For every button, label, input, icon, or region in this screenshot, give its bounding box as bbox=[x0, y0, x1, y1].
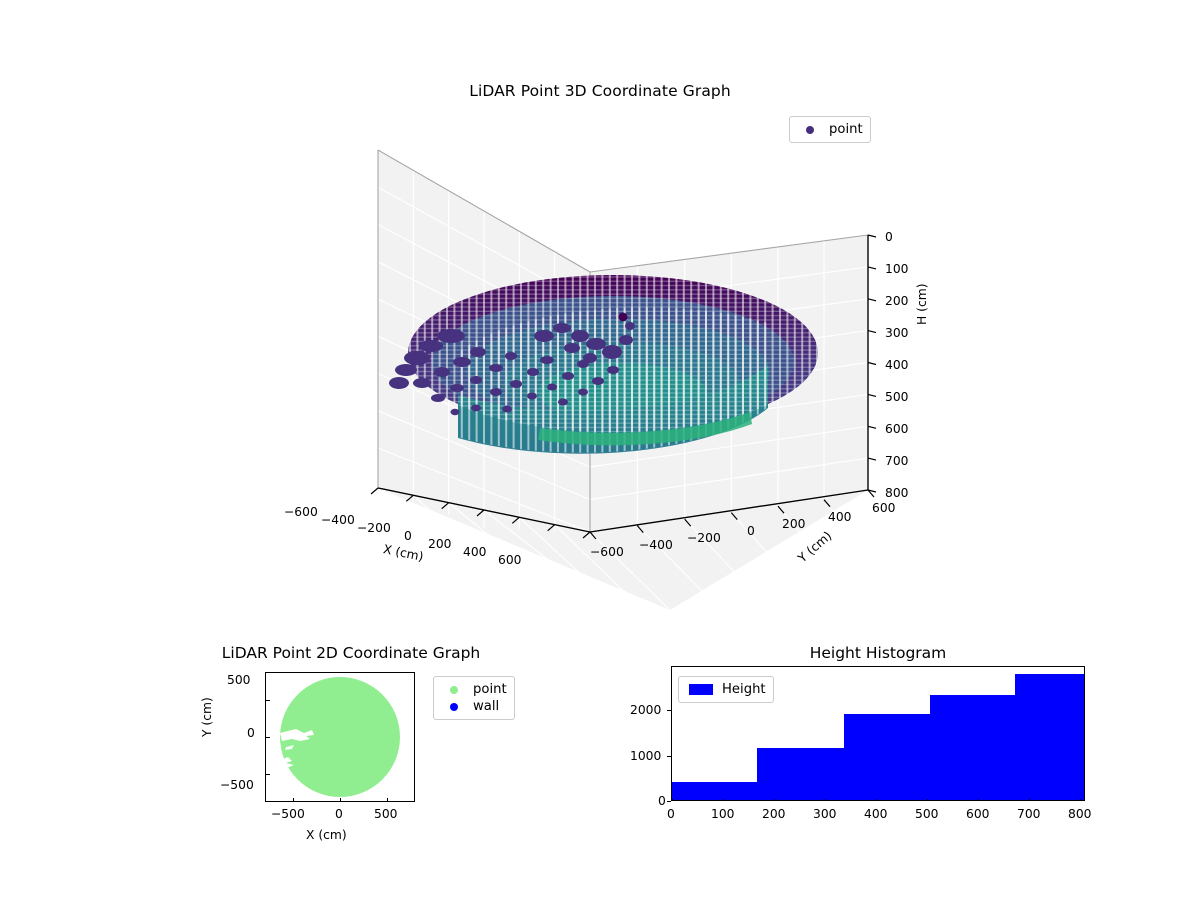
plot3d-title: LiDAR Point 3D Coordinate Graph bbox=[0, 82, 1200, 100]
legend-label-point: point bbox=[467, 682, 507, 697]
matplotlib-figure: LiDAR Point 3D Coordinate Graph point bbox=[0, 0, 1200, 900]
histogram-bar-0 bbox=[672, 782, 757, 800]
plot3d-xtick-1: −400 bbox=[321, 513, 355, 527]
plot3d-ztick-5: 500 bbox=[885, 390, 908, 404]
plot2d-canvas bbox=[266, 673, 414, 801]
plot2d-ytick-0: 0 bbox=[247, 726, 255, 740]
plot3d-ztick-8: 800 bbox=[885, 486, 908, 500]
plot3d-ytick-3: 0 bbox=[747, 524, 755, 538]
plot3d-ytick-1: −400 bbox=[639, 538, 673, 552]
legend-item-height: Height bbox=[686, 681, 766, 698]
plot3d-ytick-4: 200 bbox=[782, 517, 805, 531]
histogram-legend: Height bbox=[678, 676, 774, 703]
plot3d-ztick-4: 400 bbox=[885, 358, 908, 372]
plot2d-xtick-0: 0 bbox=[335, 807, 343, 821]
plot2d-xtick-500: 500 bbox=[374, 807, 397, 821]
plot3d-axes[interactable]: −600 −400 −200 0 200 400 600 −600 −400 −… bbox=[300, 140, 920, 640]
plot3d-ztick-3: 300 bbox=[885, 326, 908, 340]
plot2d-legend: point wall bbox=[433, 676, 515, 720]
histogram-title: Height Histogram bbox=[742, 644, 1014, 662]
histogram-ytick-1000: 1000 bbox=[630, 749, 661, 763]
histogram-xtick-0: 0 bbox=[667, 807, 675, 821]
histogram-xtick-300: 300 bbox=[813, 807, 836, 821]
plot3d-ztick-1: 100 bbox=[885, 262, 908, 276]
plot2d-ytick-neg500: −500 bbox=[220, 778, 254, 792]
histogram-bar-2 bbox=[844, 714, 930, 800]
plot3d-ztick-6: 600 bbox=[885, 422, 908, 436]
plot3d-ytick-5: 400 bbox=[828, 510, 851, 524]
plot3d-legend: point bbox=[789, 116, 871, 143]
legend-item-point: point bbox=[441, 681, 507, 698]
histogram-xtick-700: 700 bbox=[1017, 807, 1040, 821]
histogram-xtick-200: 200 bbox=[762, 807, 785, 821]
legend-item-wall: wall bbox=[441, 698, 507, 715]
histogram-xtick-800: 800 bbox=[1068, 807, 1091, 821]
histogram-ytick-0: 0 bbox=[658, 794, 666, 808]
plot2d-axes[interactable] bbox=[265, 672, 415, 802]
histogram-ytick-2000: 2000 bbox=[630, 703, 661, 717]
height-patch-icon bbox=[686, 684, 716, 695]
point-marker-icon bbox=[797, 126, 823, 134]
plot3d-canvas bbox=[300, 140, 920, 640]
plot3d-ytick-2: −200 bbox=[687, 531, 721, 545]
plot2d-title: LiDAR Point 2D Coordinate Graph bbox=[210, 644, 492, 662]
histogram-xtick-500: 500 bbox=[915, 807, 938, 821]
plot3d-ytick-0: −600 bbox=[590, 545, 624, 559]
legend-label-height: Height bbox=[716, 682, 766, 697]
plot3d-ztick-7: 700 bbox=[885, 454, 908, 468]
plot2d-xtick-neg500: −500 bbox=[271, 807, 305, 821]
plot3d-xtick-3: 0 bbox=[404, 529, 412, 543]
lidar-outlier-point bbox=[619, 313, 628, 322]
plot3d-xtick-2: −200 bbox=[357, 521, 391, 535]
plot3d-zlabel: H (cm) bbox=[915, 284, 929, 326]
plot3d-ztick-2: 200 bbox=[885, 294, 908, 308]
histogram-bar-3 bbox=[930, 695, 1016, 801]
plot3d-ytick-6: 600 bbox=[872, 501, 895, 515]
legend-item-point: point bbox=[797, 121, 863, 138]
plot2d-ylabel: Y (cm) bbox=[200, 697, 214, 737]
histogram-xtick-400: 400 bbox=[864, 807, 887, 821]
plot2d-xlabel: X (cm) bbox=[306, 828, 347, 842]
point-marker-icon bbox=[441, 686, 467, 694]
histogram-xtick-600: 600 bbox=[966, 807, 989, 821]
legend-label-wall: wall bbox=[467, 699, 499, 714]
wall-marker-icon bbox=[441, 703, 467, 711]
histogram-xtick-100: 100 bbox=[711, 807, 734, 821]
plot3d-xtick-5: 400 bbox=[463, 545, 486, 559]
plot3d-ztick-0: 0 bbox=[885, 230, 893, 244]
plot3d-xtick-4: 200 bbox=[428, 537, 451, 551]
legend-label-point: point bbox=[823, 122, 863, 137]
histogram-bar-1 bbox=[757, 748, 844, 800]
plot2d-ytick-500: 500 bbox=[227, 673, 250, 687]
histogram-bar-4 bbox=[1015, 674, 1084, 800]
plot3d-xtick-0: −600 bbox=[284, 505, 318, 519]
plot3d-xtick-6: 600 bbox=[498, 553, 521, 567]
